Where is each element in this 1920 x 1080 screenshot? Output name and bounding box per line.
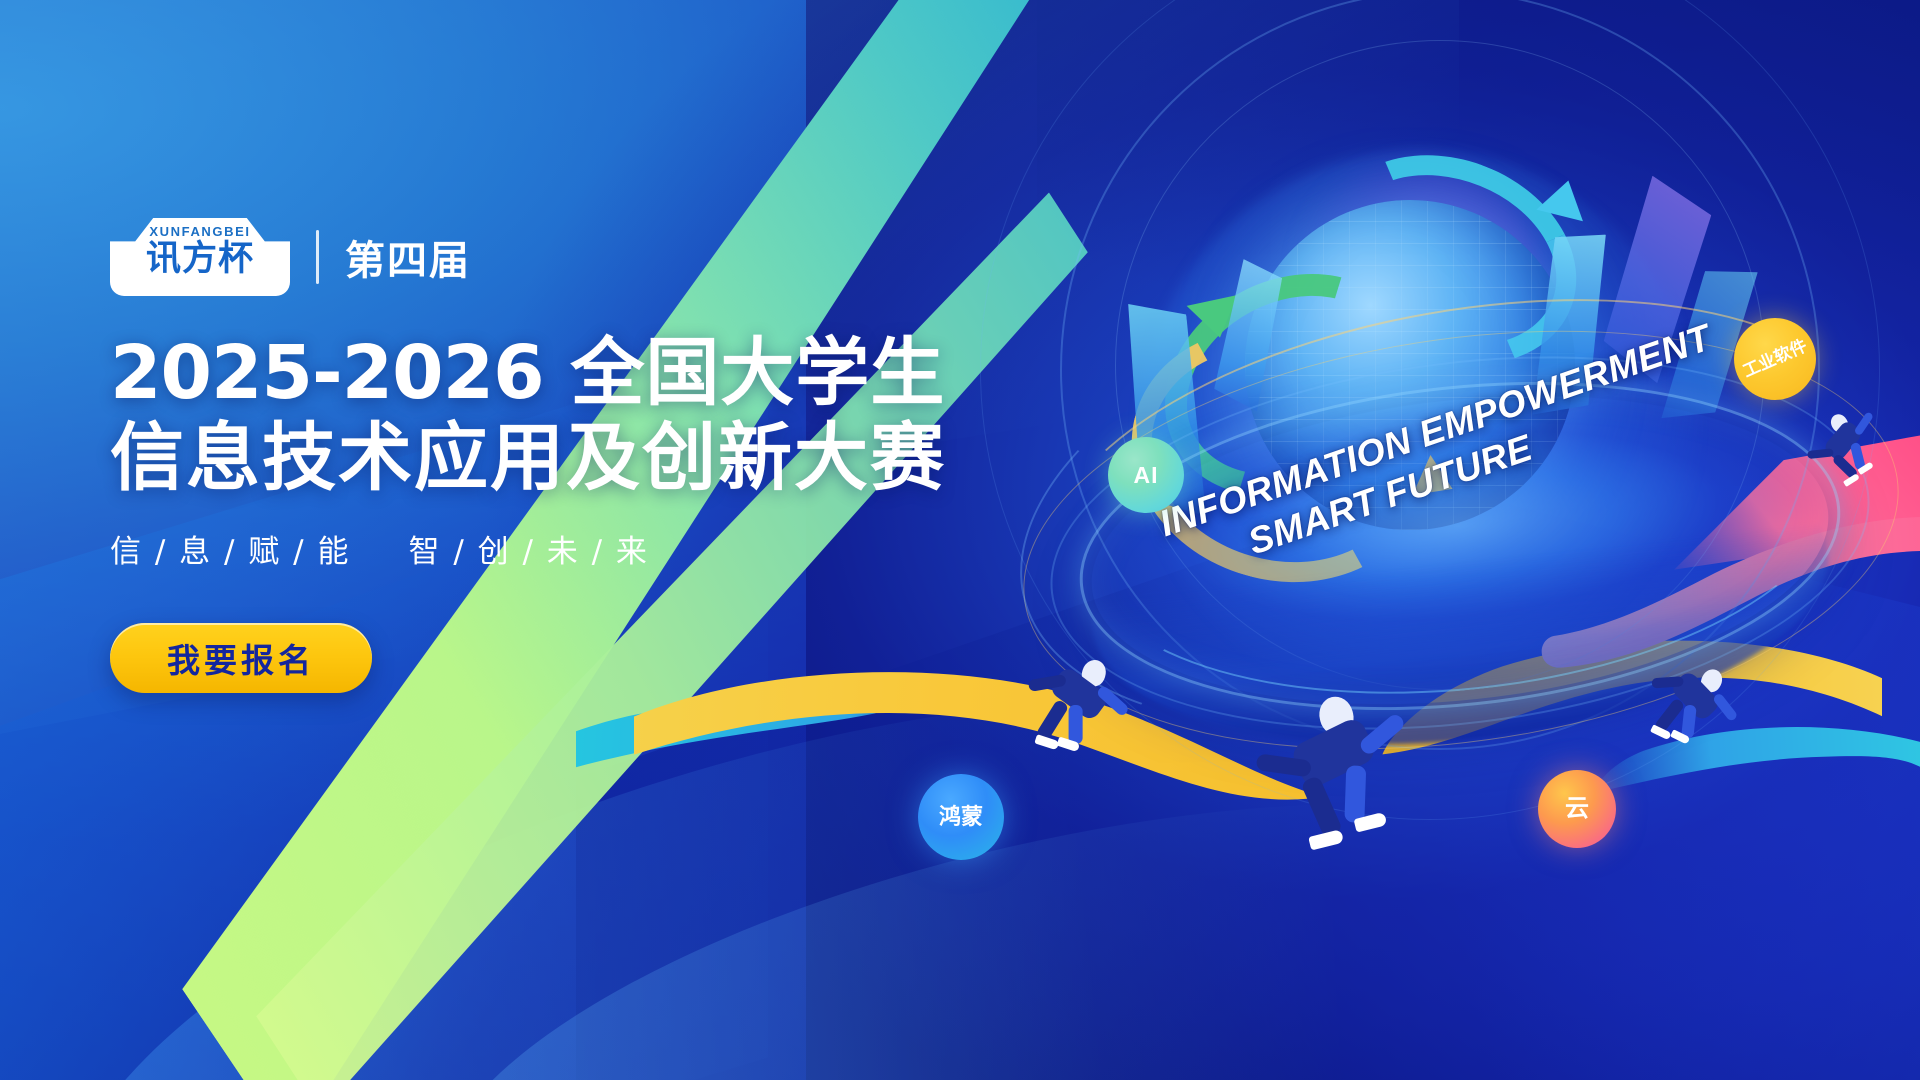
brand-logo: XUNFANGBEI 讯方杯 — [110, 218, 290, 296]
badge-harmony-label: 鸿蒙 — [939, 804, 983, 829]
badge-cloud: 云 — [1538, 770, 1616, 848]
badge-ai: AI — [1108, 437, 1184, 513]
badge-harmony: 鸿蒙 — [918, 774, 1004, 860]
slogan: 信 / 息 / 赋 / 能 智 / 创 / 未 / 来 — [110, 526, 950, 571]
page-title-line1: 2025-2026 全国大学生 — [110, 332, 950, 415]
badge-industrial-software-label: 工业软件 — [1740, 336, 1810, 382]
badge-industrial-software: 工业软件 — [1734, 318, 1816, 400]
slogan-right: 智 / 创 / 未 / 来 — [408, 526, 648, 571]
logo-divider — [316, 230, 319, 284]
brand-logo-chinese: 讯方杯 — [146, 242, 254, 277]
banner-content: XUNFANGBEI 讯方杯 第四届 2025-2026 全国大学生 信息技术应… — [110, 218, 950, 693]
brand-logo-english: XUNFANGBEI — [149, 225, 250, 238]
title-years: 2025-2026 — [110, 330, 544, 416]
badge-ai-label: AI — [1134, 462, 1159, 488]
title-line1-rest: 全国大学生 — [544, 330, 946, 416]
logo-row: XUNFANGBEI 讯方杯 第四届 — [110, 218, 950, 296]
promo-banner: INFORMATION EMPOWERMENT SMART FUTURE AI … — [0, 0, 1920, 1080]
register-button[interactable]: 我要报名 — [110, 623, 372, 693]
page-title-line2: 信息技术应用及创新大赛 — [110, 417, 950, 500]
slogan-left: 信 / 息 / 赋 / 能 — [110, 526, 350, 571]
edition-label: 第四届 — [345, 228, 471, 286]
badge-cloud-label: 云 — [1565, 795, 1589, 823]
